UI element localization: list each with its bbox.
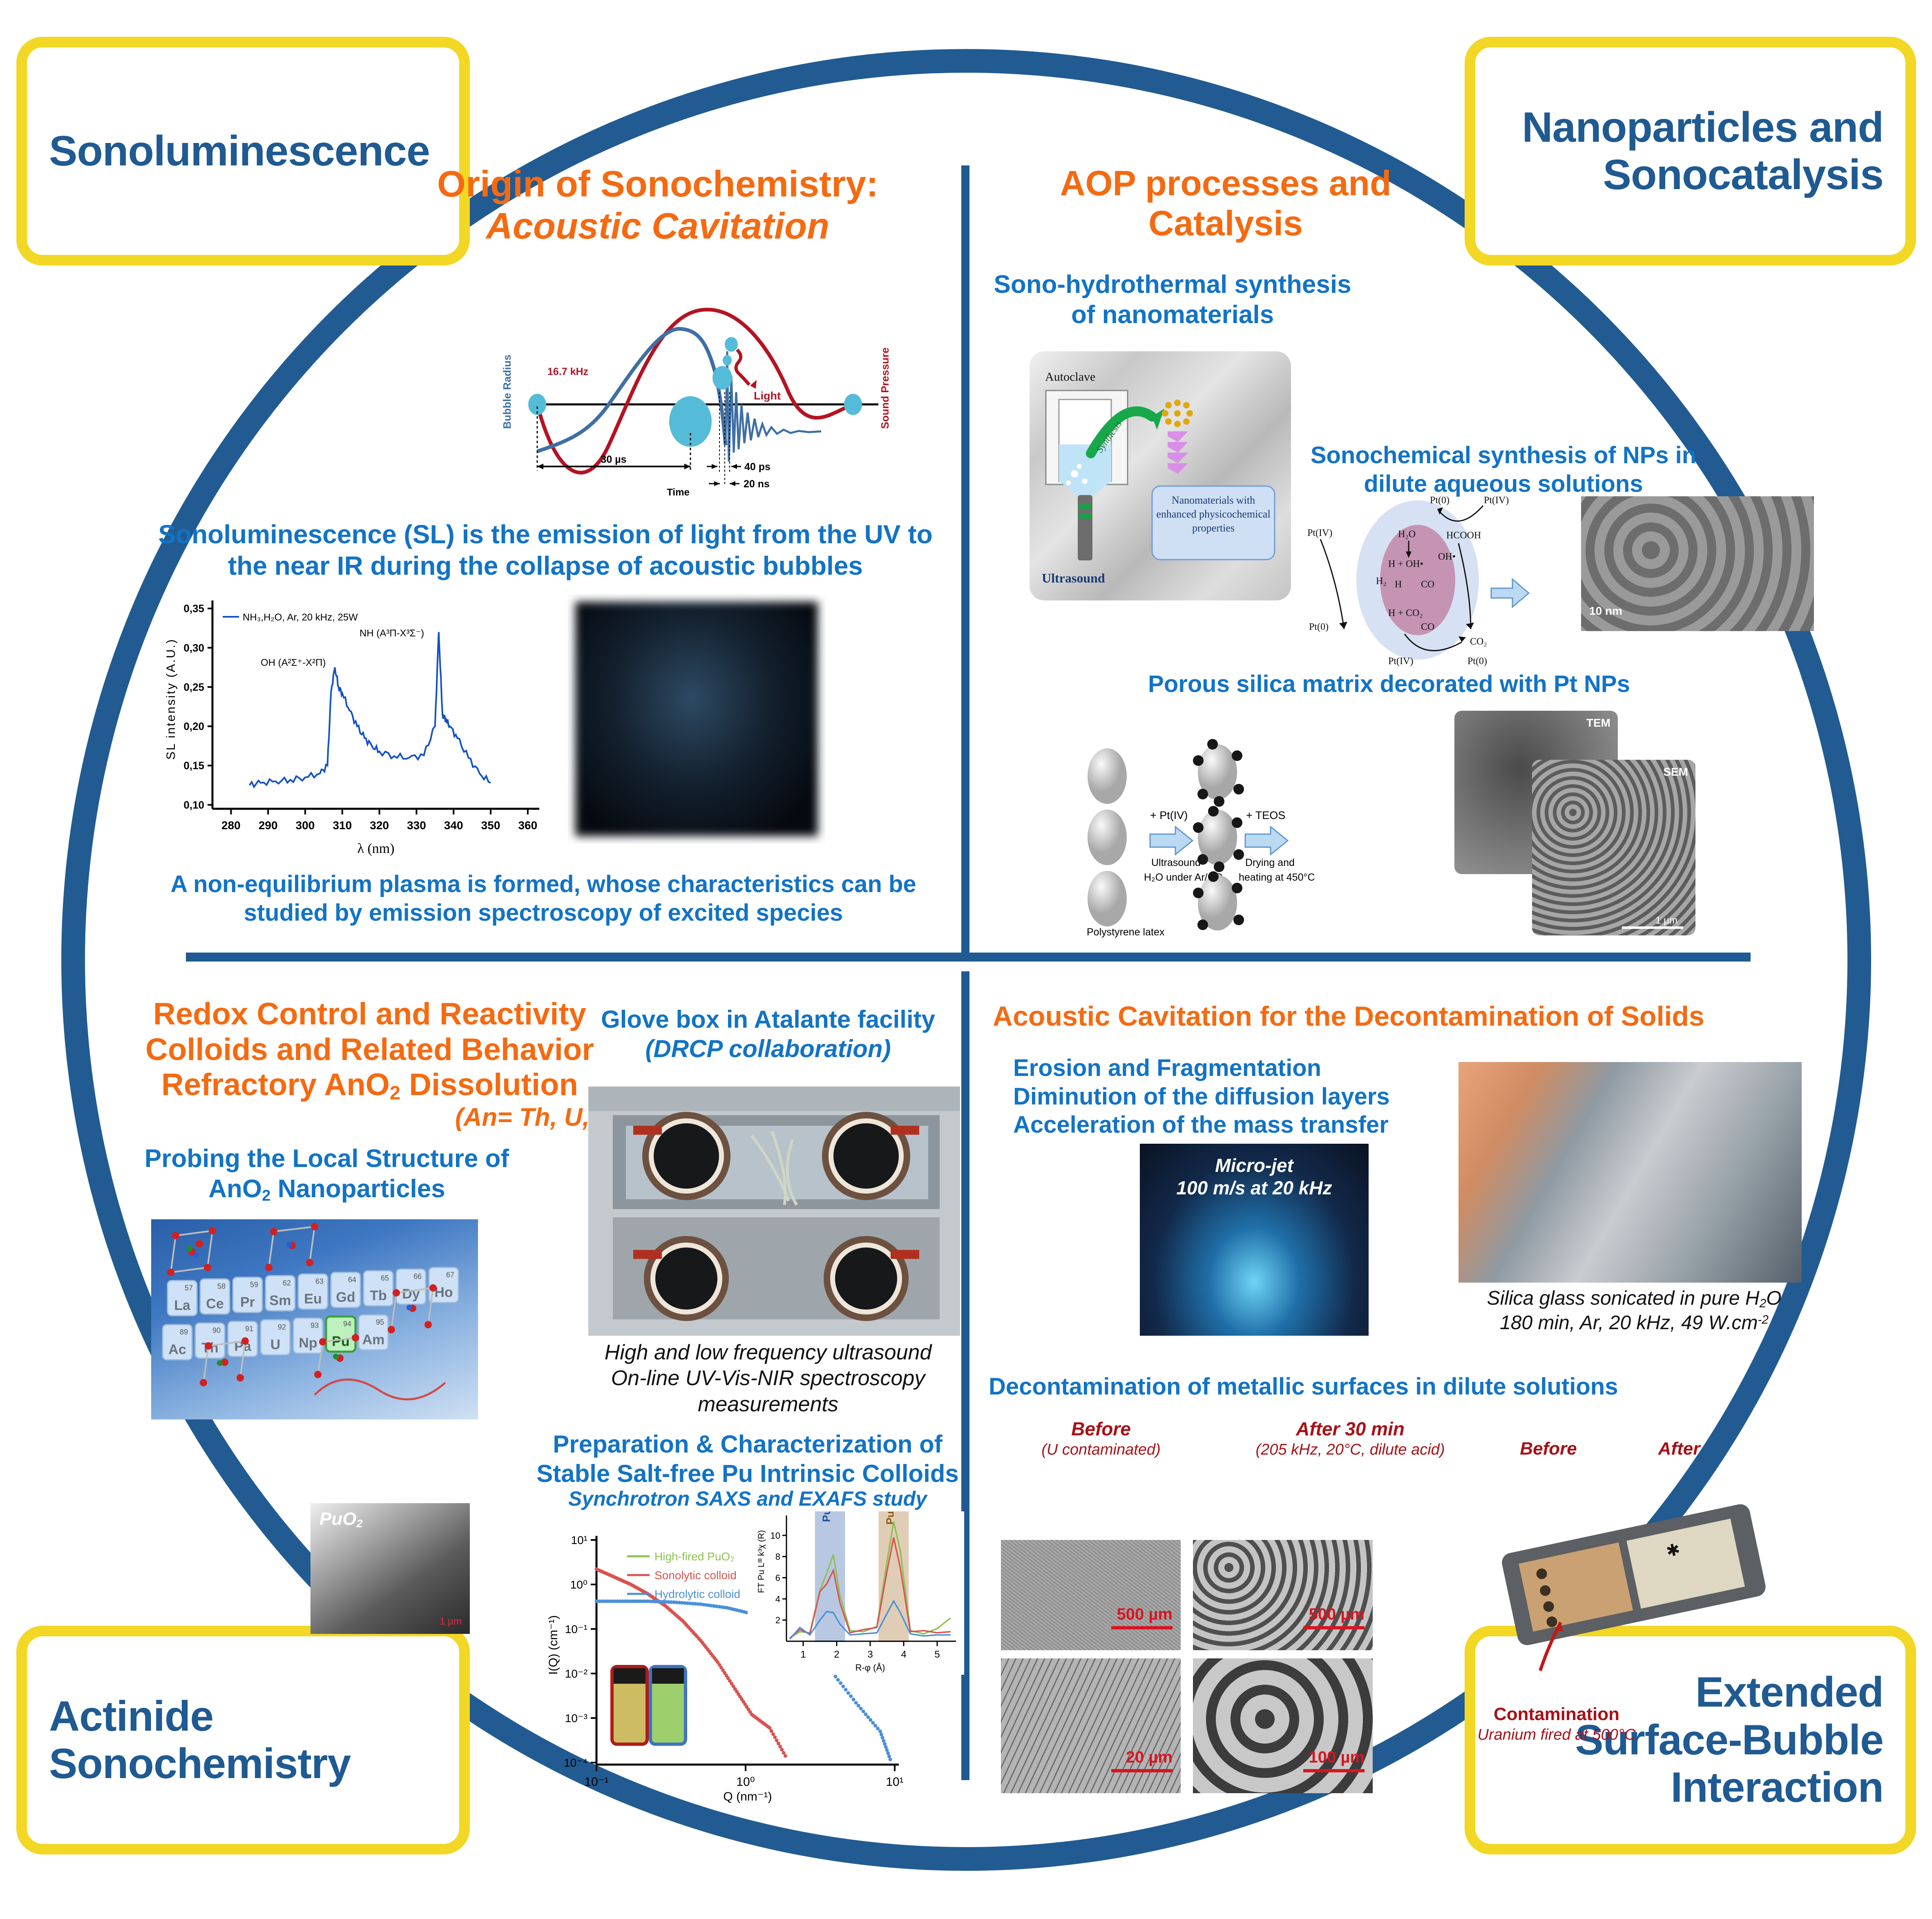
saxs-xlabel: Q (nm⁻¹) [723,1790,772,1803]
step2-condition-2: heating at 450°C [1239,872,1315,883]
tr-title-line1: AOP processes and [1021,163,1430,203]
sl-spectrum-xlabel: λ (nm) [357,841,394,856]
pt-label-co2in: CO [1421,622,1434,632]
tem-tag: TEM [1586,716,1610,730]
svg-text:0,35: 0,35 [183,602,204,615]
sl-spectrum-series [250,632,491,787]
sem-scale-label: 1 µm [1655,915,1677,926]
svg-text:4: 4 [775,1594,780,1604]
horizontal-divider [186,953,1751,962]
pu-colloids-title: Preparation & Characterization of Stable… [531,1430,964,1488]
svg-text:Tb: Tb [370,1288,387,1303]
svg-text:91: 91 [245,1325,253,1333]
label-before: Before (U contaminated) [993,1417,1209,1459]
svg-text:0,10: 0,10 [183,799,204,811]
svg-text:89: 89 [180,1328,188,1336]
svg-text:Dy: Dy [402,1286,420,1302]
scalebar-3: 100 µm [1291,1748,1365,1772]
sl-spectrum-xticks: 280290300310320330340350360 [221,809,537,832]
svg-text:10¹: 10¹ [886,1775,903,1789]
scalebar-0: 500 µm [1099,1605,1173,1629]
sem-tag: SEM [1663,765,1688,779]
cavitation-light-label: Light [754,390,781,402]
bl-title-line2: Colloids and Related Behavior [102,1032,637,1068]
metal-plate-photo: ✱ [1479,1479,1789,1675]
autoclave-label: Autoclave [1045,370,1095,384]
microjet-illustration: Micro-jet 100 m/s at 20 kHz [1140,1144,1369,1336]
microjet-line2: 100 m/s at 20 kHz [1176,1177,1332,1199]
svg-text:0,30: 0,30 [183,642,204,654]
br-section-title: Acoustic Cavitation for the Decontaminat… [993,1001,1740,1033]
contamination-main: Contamination [1422,1703,1691,1725]
br-bullet-1: Diminution of the diffusion layers [1013,1082,1422,1111]
bl-title-subscript: (An= Th, U, Pu) [102,1103,637,1132]
svg-text:0,25: 0,25 [183,681,204,693]
autoclave-diagram: Autoclave Ultrasound Synthesis Nanomater… [1030,351,1291,600]
svg-text:93: 93 [310,1321,319,1330]
label-after-main: After 30 min [1209,1417,1491,1440]
svg-text:Sonolytic colloid: Sonolytic colloid [654,1569,737,1582]
exafs-chart: Pu-OPu-Pu 246810 12345 FT Pu Lᴵᴵᴵ k³χ (R… [748,1511,964,1675]
tl-section-title: Origin of Sonochemistry: Acoustic Cavita… [392,163,923,247]
cavitation-y-right-label: Sound Pressure [879,348,891,429]
cavitation-interval-3: 20 ns [744,478,770,490]
svg-text:0,15: 0,15 [183,759,204,772]
svg-text:63: 63 [315,1277,324,1285]
tl-title-line1: Origin of Sonochemistry: [392,163,923,205]
exafs-xlabel: R-φ (Å) [855,1662,885,1673]
svg-text:4: 4 [901,1649,906,1660]
svg-text:59: 59 [250,1281,258,1289]
svg-text:10⁻¹: 10⁻¹ [565,1623,587,1636]
silica-glass-photo [1458,1062,1802,1283]
label-before-main: Before [993,1417,1209,1440]
step1-condition-1: Ultrasound [1151,857,1201,868]
svg-text:320: 320 [370,819,389,832]
tl-footer-text: A non-equilibrium plasma is formed, whos… [170,871,916,926]
puo2-label: PuO2 [319,1509,363,1530]
svg-text:Sm: Sm [270,1293,291,1308]
svg-text:0,20: 0,20 [183,720,204,732]
glovebox-caption: High and low frequency ultrasoundOn-line… [572,1340,964,1417]
svg-text:310: 310 [333,819,352,832]
svg-text:65: 65 [381,1274,389,1282]
bl-heading-probing: Probing the Local Structure of AnO2 Nano… [123,1144,531,1205]
pt-label-co2-right: CO₂ [1470,636,1487,647]
nanomaterials-box-text: Nanomaterials with enhanced physicochemi… [1155,493,1271,535]
sem-scale-bar [1622,926,1683,929]
microjet-line1: Micro-jet [1215,1154,1293,1177]
acoustic-cavitation-chart: Light 16.7 kHz Bubble Radius Sound Press… [486,270,903,498]
svg-text:94: 94 [343,1320,351,1328]
pu-colloids-subtitle: Synchrotron SAXS and EXAFS study [531,1487,964,1511]
svg-text:Am: Am [362,1332,385,1348]
cavitation-x-label: Time [667,487,690,498]
corner-label-actinide: ActinideSonochemistry [16,1626,470,1854]
tr-title-line2: Catalysis [1021,203,1430,243]
sem-after-low-mag [1193,1540,1373,1650]
scalebar-2: 20 µm [1099,1748,1173,1772]
svg-text:10⁻²: 10⁻² [565,1667,587,1680]
svg-text:10⁻¹: 10⁻¹ [584,1775,608,1789]
svg-text:62: 62 [283,1279,291,1287]
plate-label-after: After [1618,1438,1740,1460]
svg-text:280: 280 [221,819,241,832]
br-bullet-2: Acceleration of the mass transfer [1013,1111,1422,1139]
pu-title-line1: Preparation & Characterization of [531,1430,964,1459]
svg-text:10⁻³: 10⁻³ [565,1712,587,1725]
pt-label-h2o: H₂O [1398,529,1416,540]
svg-text:2: 2 [775,1615,780,1625]
pt-label-h-oh: H + OH• [1388,559,1423,569]
svg-text:330: 330 [407,819,426,832]
label-after: After 30 min (205 kHz, 20°C, dilute acid… [1209,1417,1491,1459]
puo2-sem-image: PuO2 1 µm [310,1503,470,1634]
svg-text:58: 58 [217,1282,226,1290]
sonoluminescence-photo [568,594,825,843]
svg-text:92: 92 [278,1323,286,1331]
svg-text:90: 90 [212,1326,221,1334]
svg-text:High-fired PuO₂: High-fired PuO₂ [654,1550,735,1563]
br-bullet-list: Erosion and Fragmentation Diminution of … [1013,1054,1422,1139]
svg-text:67: 67 [446,1271,454,1279]
sem-before-high-mag [1001,1658,1181,1793]
polystyrene-latex-label: Polystyrene latex [1087,926,1165,938]
pt-label-ptiv-top: Pt(IV) [1484,495,1509,506]
pu-title-line2: Stable Salt-free Pu Intrinsic Colloids [531,1459,964,1488]
svg-text:2: 2 [834,1649,839,1660]
bl-section-title: Redox Control and Reactivity Colloids an… [102,997,637,1104]
sl-spectrum-yticks: 0,100,150,200,250,300,35 [183,602,212,811]
sl-spectrum-legend: NH₃,H₂O, Ar, 20 kHz, 25W [243,612,358,623]
glovebox-title-main: Glove box in Atalante facility [576,1005,960,1034]
svg-text:Pu: Pu [332,1334,349,1349]
vertical-divider-top [961,165,969,954]
svg-text:Pu-O: Pu-O [820,1511,833,1522]
svg-text:10⁰: 10⁰ [736,1775,755,1789]
sl-statement-text: Sonoluminescence (SL) is the emission of… [158,520,932,580]
exafs-ylabel: FT Pu Lᴵᴵᴵ k³χ (R) [757,1530,766,1593]
pt-label-oh-rad: OH• [1438,551,1456,562]
glovebox-title-sub: (DRCP collaboration) [576,1034,960,1064]
pt-label-co: CO [1421,579,1434,590]
sl-spectrum-chart: 0,100,150,200,250,300,35 280290300310320… [155,588,556,858]
svg-text:10⁰: 10⁰ [570,1578,587,1591]
pt-label-pt0-top: Pt(0) [1430,495,1450,506]
step2-condition-1: Drying and [1245,857,1295,868]
corner-label-tr-text: Nanoparticles andSonocatalysis [1522,104,1883,199]
glovebox-title: Glove box in Atalante facility (DRCP col… [576,1005,960,1064]
silica-glass-caption: Silica glass sonicated in pure H2O180 mi… [1430,1287,1838,1335]
tr-heading-sonohydrothermal: Sono-hydrothermal synthesis of nanomater… [989,270,1356,330]
svg-text:10: 10 [771,1531,780,1541]
cavitation-interval-1: 30 µs [601,454,626,465]
svg-text:95: 95 [376,1318,384,1326]
svg-text:360: 360 [518,819,537,832]
svg-text:3: 3 [867,1649,873,1660]
tr-heading-porous-silica: Porous silica matrix decorated with Pt N… [1070,670,1708,698]
svg-text:Pr: Pr [240,1294,255,1310]
contamination-annotation: Contamination Uranium fired at 500°C [1422,1703,1691,1744]
br-bullet-0: Erosion and Fragmentation [1013,1054,1422,1082]
tr-section-title: AOP processes and Catalysis [1021,163,1430,243]
tem1-scalebar: 10 nm [1589,605,1622,618]
sl-spectrum-annot-nh: NH (A³Π-X³Σ⁻) [360,628,424,639]
cavitation-y-left-label: Bubble Radius [501,355,513,429]
sem-micrograph: SEM 1 µm [1532,760,1695,935]
svg-text:300: 300 [296,819,315,832]
sem-before-low-mag [1001,1540,1181,1650]
corner-label-tl-text: Sonoluminescence [49,127,430,175]
pt-label-h: H [1395,579,1402,590]
svg-text:57: 57 [185,1284,193,1292]
silica-synthesis-scheme: Polystyrene latex + Pt(IV) Ultrasound H₂… [1083,731,1450,944]
step1-reagent-label: + Pt(IV) [1150,809,1188,821]
corner-label-nanoparticles: Nanoparticles andSonocatalysis [1465,37,1916,266]
pt-label-pt0-bottom: Pt(0) [1467,656,1487,667]
bl-title-line1: Redox Control and Reactivity [102,997,637,1032]
contamination-sub: Uranium fired at 500°C [1422,1725,1691,1744]
svg-text:10⁻⁴: 10⁻⁴ [564,1756,587,1769]
pt-label-ptiv-bottom: Pt(IV) [1388,656,1413,667]
sl-spectrum-annot-oh: OH (A²Σ⁺-X²Π) [261,657,326,668]
glovebox-photo [588,1087,960,1336]
puo2-scalebar: 1 µm [440,1616,462,1627]
saxs-ylabel: I(Q) (cm⁻¹) [547,1615,560,1675]
svg-text:1: 1 [800,1649,806,1660]
platinum-reduction-cycle-diagram: H₂O H + OH• H₂ H CO H + CO₂ CO OH• Pt(0)… [1299,486,1536,674]
svg-text:Np: Np [299,1335,317,1351]
svg-text:Ho: Ho [434,1285,453,1300]
svg-text:Ac: Ac [168,1342,186,1357]
scalebar-1: 500 µm [1291,1605,1365,1629]
svg-text:Hydrolytic colloid: Hydrolytic colloid [654,1588,740,1600]
svg-text:Eu: Eu [304,1291,322,1307]
sem-after-high-mag [1193,1658,1373,1793]
periodic-table-graphic: 57La58Ce59Pr62Sm63Eu64Gd65Tb66Dy67Ho89Ac… [151,1219,478,1419]
pt-label-h2: H₂ [1376,576,1387,587]
svg-text:64: 64 [348,1276,356,1284]
svg-text:Ce: Ce [206,1296,223,1312]
label-before-sub: (U contaminated) [993,1440,1209,1459]
step2-reagent-label: + TEOS [1246,809,1285,821]
svg-text:290: 290 [259,819,278,832]
ultrasound-label: Ultrasound [1042,571,1105,585]
svg-text:340: 340 [444,819,463,832]
label-after-sub: (205 kHz, 20°C, dilute acid) [1209,1440,1491,1459]
svg-text:350: 350 [481,819,500,832]
corner-label-bl-text: ActinideSonochemistry [49,1693,351,1788]
cavitation-interval-2: 40 ps [744,461,771,473]
svg-text:8: 8 [775,1552,780,1562]
cavitation-frequency-label: 16.7 kHz [547,366,588,377]
decontamination-heading: Decontamination of metallic surfaces in … [989,1372,1659,1401]
tl-footer-statement: A non-equilibrium plasma is formed, whos… [135,870,952,927]
svg-text:5: 5 [934,1649,940,1660]
svg-text:U: U [270,1337,281,1352]
svg-text:6: 6 [775,1573,780,1583]
sonoluminescence-statement: Sonoluminescence (SL) is the emission of… [147,519,944,582]
tl-title-line2: Acoustic Cavitation [392,205,923,248]
pt-label-ptiv-left: Pt(IV) [1307,528,1332,538]
pt-label-hcooh: HCOOH [1446,530,1481,541]
svg-text:Gd: Gd [336,1290,355,1305]
svg-text:La: La [174,1298,191,1313]
sl-spectrum-ylabel: SL intensity (A.U.) [164,638,178,760]
pt-label-pt0-left: Pt(0) [1309,622,1329,632]
bl-title-line3: Refractory AnO2 Dissolution [102,1067,637,1104]
plate-label-before: Before [1487,1438,1610,1460]
pt-label-h-co2: H + CO₂ [1388,608,1423,618]
svg-text:66: 66 [413,1272,422,1281]
svg-text:10¹: 10¹ [571,1534,587,1546]
